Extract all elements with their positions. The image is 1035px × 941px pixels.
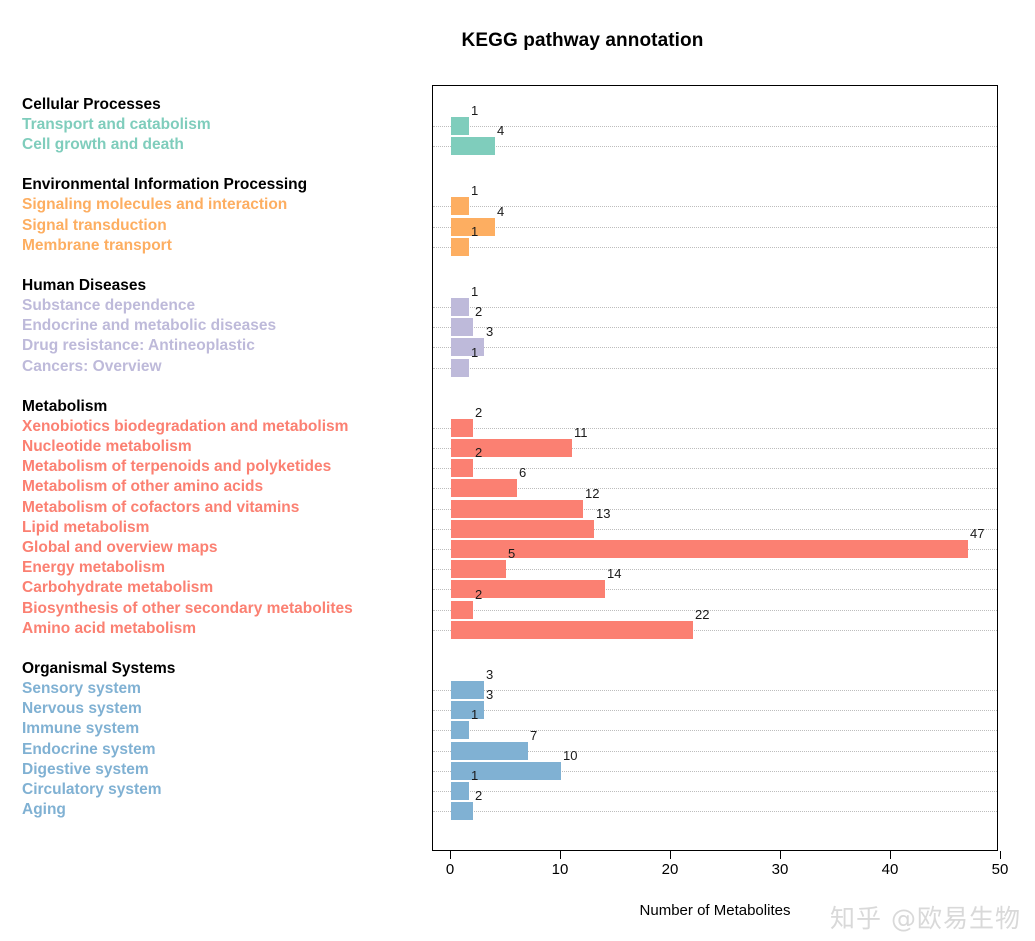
gridline xyxy=(433,488,997,489)
item-label: Metabolism of other amino acids xyxy=(22,478,263,496)
item-label: Signal transduction xyxy=(22,217,167,235)
x-tick xyxy=(670,851,671,859)
bar-value-label: 3 xyxy=(486,324,493,339)
plot-area: 1414112312112612134751422233171012 xyxy=(432,85,998,851)
watermark: 知乎 @欧易生物 xyxy=(830,899,1021,935)
bar-value-label: 12 xyxy=(585,486,599,501)
item-label: Circulatory system xyxy=(22,781,162,799)
gridline xyxy=(433,206,997,207)
item-label: Xenobiotics biodegradation and metabolis… xyxy=(22,418,348,436)
bar-value-label: 1 xyxy=(471,224,478,239)
bar-value-label: 1 xyxy=(471,284,478,299)
x-tick xyxy=(1000,851,1001,859)
bar-value-label: 47 xyxy=(970,526,984,541)
group-header-organismal-systems: Organismal Systems xyxy=(22,660,175,678)
x-tick-label: 30 xyxy=(772,861,789,878)
item-label: Immune system xyxy=(22,720,139,738)
bar[interactable] xyxy=(451,298,469,316)
gridline xyxy=(433,468,997,469)
x-tick-label: 10 xyxy=(552,861,569,878)
bar[interactable] xyxy=(451,802,473,820)
item-label: Metabolism of cofactors and vitamins xyxy=(22,499,299,517)
bar-value-label: 14 xyxy=(607,566,621,581)
x-tick xyxy=(780,851,781,859)
category-label-column: Cellular ProcessesTransport and cataboli… xyxy=(0,85,432,851)
gridline xyxy=(433,368,997,369)
item-label: Digestive system xyxy=(22,761,149,779)
gridline xyxy=(433,227,997,228)
x-axis: 01020304050 xyxy=(432,851,998,891)
bar[interactable] xyxy=(451,479,517,497)
bar-value-label: 1 xyxy=(471,345,478,360)
bar[interactable] xyxy=(451,318,473,336)
bar[interactable] xyxy=(451,701,484,719)
bar-value-label: 2 xyxy=(475,405,482,420)
item-label: Membrane transport xyxy=(22,237,172,255)
bar[interactable] xyxy=(451,742,528,760)
bar[interactable] xyxy=(451,117,469,135)
bar[interactable] xyxy=(451,359,469,377)
item-label: Amino acid metabolism xyxy=(22,620,196,638)
bar[interactable] xyxy=(451,540,968,558)
bar-value-label: 1 xyxy=(471,183,478,198)
gridline xyxy=(433,710,997,711)
item-label: Energy metabolism xyxy=(22,559,165,577)
bar[interactable] xyxy=(451,439,572,457)
bar-value-label: 7 xyxy=(530,728,537,743)
gridline xyxy=(433,347,997,348)
gridline xyxy=(433,811,997,812)
group-header-metabolism: Metabolism xyxy=(22,398,107,416)
item-label: Substance dependence xyxy=(22,297,195,315)
bar-value-label: 6 xyxy=(519,465,526,480)
group-header-environmental-information-processing: Environmental Information Processing xyxy=(22,176,307,194)
item-label: Sensory system xyxy=(22,680,141,698)
bar-value-label: 3 xyxy=(486,687,493,702)
x-tick-label: 50 xyxy=(992,861,1009,878)
item-label: Carbohydrate metabolism xyxy=(22,579,213,597)
gridline xyxy=(433,791,997,792)
plot-inner: 1414112312112612134751422233171012 xyxy=(433,86,997,850)
x-tick-label: 0 xyxy=(446,861,454,878)
gridline xyxy=(433,569,997,570)
gridline xyxy=(433,126,997,127)
bar-value-label: 11 xyxy=(574,425,588,440)
gridline xyxy=(433,610,997,611)
bar-value-label: 2 xyxy=(475,304,482,319)
bar[interactable] xyxy=(451,500,583,518)
bar[interactable] xyxy=(451,137,495,155)
item-label: Lipid metabolism xyxy=(22,519,149,537)
bar[interactable] xyxy=(451,601,473,619)
bar[interactable] xyxy=(451,197,469,215)
kegg-pathway-annotation-figure: KEGG pathway annotation Cellular Process… xyxy=(0,0,1035,941)
bar-value-label: 2 xyxy=(475,587,482,602)
bar[interactable] xyxy=(451,721,469,739)
bar-value-label: 2 xyxy=(475,788,482,803)
item-label: Biosynthesis of other secondary metaboli… xyxy=(22,600,353,618)
page-title: KEGG pathway annotation xyxy=(0,30,1035,52)
gridline xyxy=(433,307,997,308)
bar[interactable] xyxy=(451,238,469,256)
bar-value-label: 1 xyxy=(471,707,478,722)
bar[interactable] xyxy=(451,621,693,639)
item-label: Aging xyxy=(22,801,66,819)
bar-value-label: 4 xyxy=(497,123,504,138)
bar-value-label: 1 xyxy=(471,768,478,783)
x-tick-label: 40 xyxy=(882,861,899,878)
x-tick xyxy=(450,851,451,859)
bar-value-label: 1 xyxy=(471,103,478,118)
bar[interactable] xyxy=(451,338,484,356)
bar-value-label: 4 xyxy=(497,204,504,219)
group-header-cellular-processes: Cellular Processes xyxy=(22,96,161,114)
bar-value-label: 5 xyxy=(508,546,515,561)
bar-value-label: 10 xyxy=(563,748,577,763)
bar[interactable] xyxy=(451,419,473,437)
bar[interactable] xyxy=(451,762,561,780)
gridline xyxy=(433,247,997,248)
item-label: Nucleotide metabolism xyxy=(22,438,192,456)
item-label: Endocrine and metabolic diseases xyxy=(22,317,276,335)
bar[interactable] xyxy=(451,520,594,538)
bar[interactable] xyxy=(451,560,506,578)
item-label: Global and overview maps xyxy=(22,539,218,557)
item-label: Cell growth and death xyxy=(22,136,184,154)
bar-value-label: 3 xyxy=(486,667,493,682)
item-label: Nervous system xyxy=(22,700,142,718)
item-label: Transport and catabolism xyxy=(22,116,211,134)
item-label: Cancers: Overview xyxy=(22,358,162,376)
gridline xyxy=(433,690,997,691)
bar[interactable] xyxy=(451,782,469,800)
item-label: Endocrine system xyxy=(22,741,156,759)
gridline xyxy=(433,146,997,147)
group-header-human-diseases: Human Diseases xyxy=(22,277,146,295)
item-label: Signaling molecules and interaction xyxy=(22,196,287,214)
gridline xyxy=(433,327,997,328)
item-label: Drug resistance: Antineoplastic xyxy=(22,337,255,355)
x-tick xyxy=(890,851,891,859)
x-tick xyxy=(560,851,561,859)
bar[interactable] xyxy=(451,681,484,699)
x-tick-label: 20 xyxy=(662,861,679,878)
item-label: Metabolism of terpenoids and polyketides xyxy=(22,458,331,476)
bar-value-label: 22 xyxy=(695,607,709,622)
bar-value-label: 2 xyxy=(475,445,482,460)
gridline xyxy=(433,730,997,731)
bar[interactable] xyxy=(451,459,473,477)
gridline xyxy=(433,428,997,429)
bar-value-label: 13 xyxy=(596,506,610,521)
